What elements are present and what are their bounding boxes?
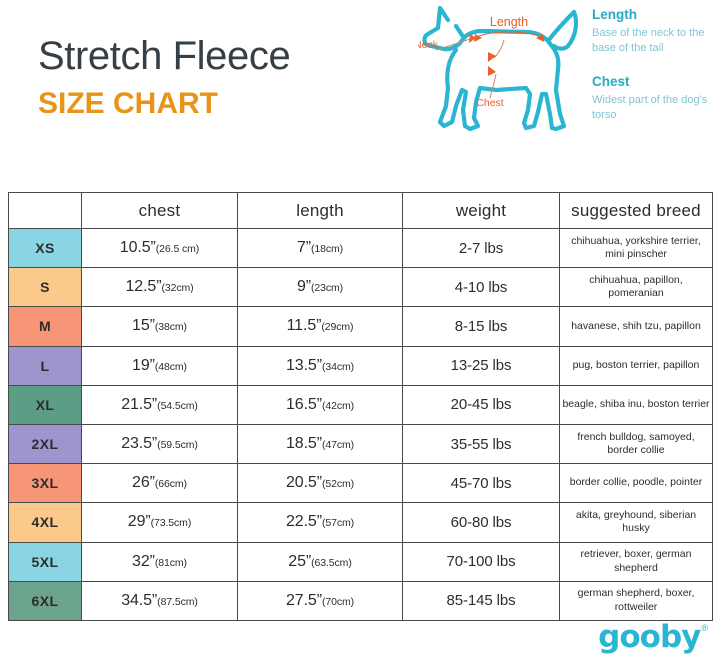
cell-size-6xl: 6XL [9,581,82,620]
cell-weight: 20-45 lbs [403,385,560,424]
length-centimeters: (63.5cm) [311,557,352,569]
cell-chest: 15”(38cm) [82,307,238,346]
cell-weight: 35-55 lbs [403,424,560,463]
cell-size-m: M [9,307,82,346]
table-row: 6XL34.5”(87.5cm)27.5”(70cm)85-145 lbsger… [9,581,713,620]
header-chest: chest [82,193,238,229]
length-label: Length [490,15,528,29]
legend-term-length: Length [592,6,717,24]
header-weight: weight [403,193,560,229]
table-body: XS10.5”(26.5 cm)7”(18cm)2-7 lbschihuahua… [9,229,713,621]
page-subtitle: SIZE CHART [38,84,418,124]
length-inches: 7” [297,239,311,256]
cell-weight: 60-80 lbs [403,503,560,542]
chest-centimeters: (54.5cm) [157,400,198,412]
table-row: XS10.5”(26.5 cm)7”(18cm)2-7 lbschihuahua… [9,229,713,268]
legend-desc-length: Base of the neck to the base of the tail [592,26,717,56]
title-block: Stretch Fleece SIZE CHART [38,32,418,124]
header-length: length [238,193,403,229]
cell-suggested-breed: german shepherd, boxer, rottweiler [560,581,713,620]
cell-length: 25”(63.5cm) [238,542,403,581]
logo-wordmark: gooby [598,622,700,653]
chest-inches: 34.5” [121,592,157,609]
cell-weight: 45-70 lbs [403,464,560,503]
size-chart-page: Stretch Fleece SIZE CHART Length [0,0,720,658]
length-inches: 18.5” [286,435,322,452]
length-centimeters: (29cm) [321,321,353,333]
table-row: 4XL29”(73.5cm)22.5”(57cm)60-80 lbsakita,… [9,503,713,542]
chest-centimeters: (81cm) [155,557,187,569]
cell-suggested-breed: retriever, boxer, german shepherd [560,542,713,581]
cell-suggested-breed: pug, boston terrier, papillon [560,346,713,385]
registered-trademark-icon: ® [701,623,708,633]
cell-chest: 29”(73.5cm) [82,503,238,542]
cell-size-l: L [9,346,82,385]
chest-label: Chest [476,97,504,109]
chest-centimeters: (66cm) [155,478,187,490]
table-row: 2XL23.5”(59.5cm)18.5”(47cm)35-55 lbsfren… [9,424,713,463]
cell-chest: 12.5”(32cm) [82,268,238,307]
table-row: S12.5”(32cm)9”(23cm)4-10 lbschihuahua, p… [9,268,713,307]
table-header-row: chest length weight suggested breed [9,193,713,229]
length-inches: 9” [297,278,311,295]
length-inches: 20.5” [286,474,322,491]
chest-centimeters: (38cm) [155,321,187,333]
length-centimeters: (70cm) [322,596,354,608]
header-size [9,193,82,229]
chest-inches: 10.5” [120,239,156,256]
table-row: XL21.5”(54.5cm)16.5”(42cm)20-45 lbsbeagl… [9,385,713,424]
legend-term-chest: Chest [592,73,717,91]
header-suggested-breed: suggested breed [560,193,713,229]
cell-weight: 85-145 lbs [403,581,560,620]
cell-size-s: S [9,268,82,307]
chest-centimeters: (87.5cm) [157,596,198,608]
cell-chest: 19”(48cm) [82,346,238,385]
dog-measurement-diagram: Length Chest Neck [418,2,598,147]
cell-size-4xl: 4XL [9,503,82,542]
cell-chest: 23.5”(59.5cm) [82,424,238,463]
chest-inches: 15” [132,317,155,334]
cell-length: 27.5”(70cm) [238,581,403,620]
chest-inches: 32” [132,553,155,570]
cell-chest: 26”(66cm) [82,464,238,503]
cell-chest: 32”(81cm) [82,542,238,581]
cell-weight: 8-15 lbs [403,307,560,346]
length-inches: 27.5” [286,592,322,609]
cell-size-xl: XL [9,385,82,424]
length-centimeters: (18cm) [311,243,343,255]
length-inches: 16.5” [286,396,322,413]
cell-chest: 10.5”(26.5 cm) [82,229,238,268]
cell-length: 20.5”(52cm) [238,464,403,503]
cell-length: 9”(23cm) [238,268,403,307]
length-centimeters: (52cm) [322,478,354,490]
cell-weight: 4-10 lbs [403,268,560,307]
cell-suggested-breed: french bulldog, samoyed, border collie [560,424,713,463]
cell-size-3xl: 3XL [9,464,82,503]
chest-centimeters: (73.5cm) [151,517,192,529]
legend-group-chest: Chest Widest part of the dog's torso [592,73,717,123]
chest-inches: 23.5” [121,435,157,452]
length-inches: 25” [288,553,311,570]
chest-arrow-lower-head-icon [488,66,496,76]
dog-diagram-svg: Length Chest Neck [418,2,598,147]
table-header: chest length weight suggested breed [9,193,713,229]
cell-suggested-breed: chihuahua, yorkshire terrier, mini pinsc… [560,229,713,268]
cell-chest: 34.5”(87.5cm) [82,581,238,620]
cell-length: 16.5”(42cm) [238,385,403,424]
cell-length: 22.5”(57cm) [238,503,403,542]
chest-centimeters: (48cm) [155,361,187,373]
size-chart-table: chest length weight suggested breed XS10… [8,192,713,621]
length-inches: 13.5” [286,357,322,374]
cell-length: 7”(18cm) [238,229,403,268]
cell-suggested-breed: akita, greyhound, siberian husky [560,503,713,542]
cell-chest: 21.5”(54.5cm) [82,385,238,424]
cell-size-5xl: 5XL [9,542,82,581]
chest-centimeters: (32cm) [161,282,193,294]
cell-size-xs: XS [9,229,82,268]
cell-length: 18.5”(47cm) [238,424,403,463]
cell-size-2xl: 2XL [9,424,82,463]
length-centimeters: (57cm) [322,517,354,529]
neck-label: Neck [418,39,439,51]
legend-group-length: Length Base of the neck to the base of t… [592,6,717,56]
chest-centimeters: (26.5 cm) [156,243,199,255]
cell-weight: 2-7 lbs [403,229,560,268]
cell-suggested-breed: beagle, shiba inu, boston terrier [560,385,713,424]
table-row: 5XL32”(81cm)25”(63.5cm)70-100 lbsretriev… [9,542,713,581]
length-centimeters: (23cm) [311,282,343,294]
chest-inches: 26” [132,474,155,491]
length-centimeters: (34cm) [322,361,354,373]
legend-desc-chest: Widest part of the dog's torso [592,93,717,123]
cell-length: 11.5”(29cm) [238,307,403,346]
chest-inches: 19” [132,357,155,374]
chest-inches: 12.5” [125,278,161,295]
chest-centimeters: (59.5cm) [157,439,198,451]
cell-suggested-breed: chihuahua, papillon, pomeranian [560,268,713,307]
chest-inches: 21.5” [121,396,157,413]
cell-length: 13.5”(34cm) [238,346,403,385]
cell-suggested-breed: havanese, shih tzu, papillon [560,307,713,346]
length-inches: 22.5” [286,513,322,530]
table-row: L19”(48cm)13.5”(34cm)13-25 lbspug, bosto… [9,346,713,385]
cell-weight: 70-100 lbs [403,542,560,581]
length-inches: 11.5” [287,317,322,334]
table-row: M15”(38cm)11.5”(29cm)8-15 lbshavanese, s… [9,307,713,346]
length-centimeters: (47cm) [322,439,354,451]
cell-weight: 13-25 lbs [403,346,560,385]
measurement-legend: Length Base of the neck to the base of t… [592,6,717,123]
table-row: 3XL26”(66cm)20.5”(52cm)45-70 lbsborder c… [9,464,713,503]
brand-logo: gooby ® [598,622,708,653]
length-centimeters: (42cm) [322,400,354,412]
page-title: Stretch Fleece [38,32,418,80]
chest-inches: 29” [128,513,151,530]
cell-suggested-breed: border collie, poodle, pointer [560,464,713,503]
